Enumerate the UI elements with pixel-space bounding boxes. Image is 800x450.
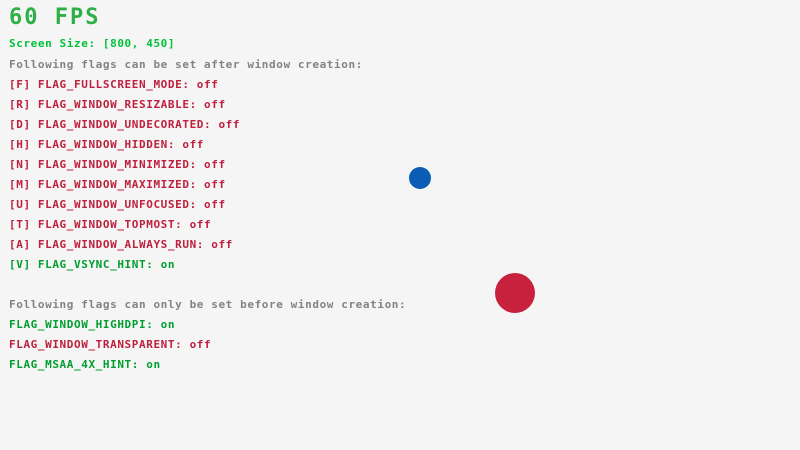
blue-ball-shape <box>409 167 431 189</box>
flag-row-window-hidden[interactable]: [H] FLAG_WINDOW_HIDDEN: off <box>9 138 204 151</box>
flag-row-vsync-hint[interactable]: [V] FLAG_VSYNC_HINT: on <box>9 258 175 271</box>
flag-row-window-topmost[interactable]: [T] FLAG_WINDOW_TOPMOST: off <box>9 218 211 231</box>
flag-row-window-transparent: FLAG_WINDOW_TRANSPARENT: off <box>9 338 211 351</box>
red-ball-shape <box>495 273 535 313</box>
flag-row-window-highdpi: FLAG_WINDOW_HIGHDPI: on <box>9 318 175 331</box>
flag-row-window-resizable[interactable]: [R] FLAG_WINDOW_RESIZABLE: off <box>9 98 226 111</box>
flag-row-window-minimized[interactable]: [N] FLAG_WINDOW_MINIMIZED: off <box>9 158 226 171</box>
flag-row-window-unfocused[interactable]: [U] FLAG_WINDOW_UNFOCUSED: off <box>9 198 226 211</box>
screen-size-label: Screen Size: [800, 450] <box>9 37 175 50</box>
flag-row-window-maximized[interactable]: [M] FLAG_WINDOW_MAXIMIZED: off <box>9 178 226 191</box>
creation-flags-heading: Following flags can only be set before w… <box>9 298 406 311</box>
flag-row-window-undecorated[interactable]: [D] FLAG_WINDOW_UNDECORATED: off <box>9 118 240 131</box>
flag-row-window-always-run[interactable]: [A] FLAG_WINDOW_ALWAYS_RUN: off <box>9 238 233 251</box>
runtime-flags-heading: Following flags can be set after window … <box>9 58 363 71</box>
flag-row-msaa-4x-hint: FLAG_MSAA_4X_HINT: on <box>9 358 161 371</box>
fps-counter: 60 FPS <box>9 6 100 30</box>
raylib-window-canvas[interactable]: 60 FPS Screen Size: [800, 450] Following… <box>0 0 800 450</box>
flag-row-fullscreen-mode[interactable]: [F] FLAG_FULLSCREEN_MODE: off <box>9 78 218 91</box>
